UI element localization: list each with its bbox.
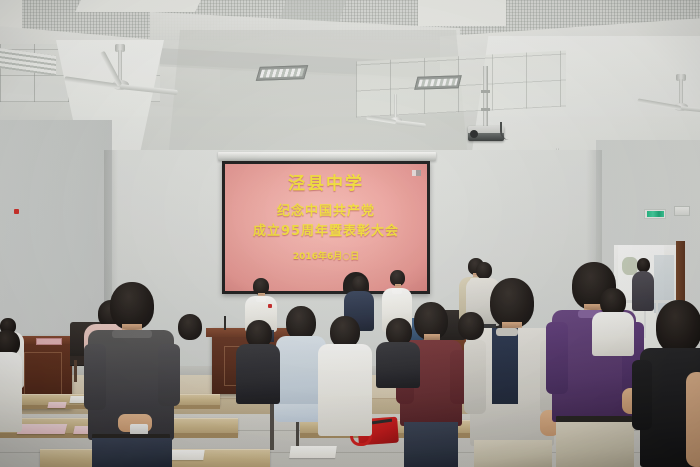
slide-line-2: 成立95周年暨表彰大会 — [225, 225, 427, 239]
torso — [318, 344, 372, 436]
collar — [496, 328, 518, 336]
ceiling-panel-right-a — [418, 0, 506, 26]
side-podium-panel — [24, 352, 62, 400]
projector-mount-pole — [483, 66, 488, 128]
trousers — [92, 438, 172, 467]
slide-school-name: 泾县中学 — [225, 176, 427, 194]
head — [458, 312, 484, 340]
exit-sign-glow — [647, 211, 664, 217]
handout-papers — [289, 446, 337, 458]
torso — [376, 342, 420, 388]
head — [490, 278, 534, 328]
podium-name-card — [36, 338, 62, 345]
collar — [112, 330, 152, 338]
torso — [0, 352, 22, 432]
head — [637, 258, 650, 272]
head — [286, 306, 316, 340]
projector-pole-joint — [481, 90, 490, 93]
polo-navy-panel — [492, 328, 518, 404]
ceiling-light-panel-2 — [414, 75, 462, 90]
arm-left — [632, 360, 652, 430]
projector-pole-joint — [481, 108, 490, 111]
shirt-logo — [268, 304, 272, 308]
head — [656, 300, 700, 354]
handout-papers — [47, 402, 66, 408]
handout-papers — [17, 424, 67, 434]
projector-watermark-icon — [412, 170, 421, 176]
torso — [632, 271, 654, 311]
fan-rod — [679, 79, 683, 105]
projector-screen-roller[interactable] — [218, 152, 436, 161]
arm-left — [84, 344, 106, 410]
arm-left — [464, 340, 486, 414]
arm-right — [158, 344, 180, 406]
collar — [256, 297, 266, 302]
ceiling-tile-grid-right — [356, 50, 566, 117]
fire-alarm-indicator-icon — [14, 209, 19, 214]
trousers — [556, 422, 634, 467]
slide-line-1: 纪念中国共产党 — [225, 205, 427, 219]
emergency-exit-sign-icon — [644, 209, 666, 219]
collar — [392, 289, 402, 294]
trousers — [404, 422, 458, 467]
photo-scene: 泾县中学 纪念中国共产党 成立95周年暨表彰大会 2016年6月○日 — [0, 0, 700, 467]
arm — [686, 372, 700, 467]
head — [352, 276, 367, 292]
head — [110, 282, 154, 330]
podium-microphone — [224, 316, 226, 330]
torso — [236, 344, 280, 404]
ceiling-light-panel-1 — [256, 65, 308, 81]
projector-lens — [470, 130, 478, 138]
slide-date: 2016年6月○日 — [225, 253, 427, 262]
head — [476, 262, 492, 279]
arm-left — [546, 322, 568, 394]
chair-leg — [74, 360, 77, 382]
ceiling-beam-strip-a — [75, 0, 201, 12]
wall-control-box — [674, 206, 690, 216]
torso — [592, 312, 634, 356]
trousers — [474, 440, 552, 467]
head — [178, 314, 202, 340]
